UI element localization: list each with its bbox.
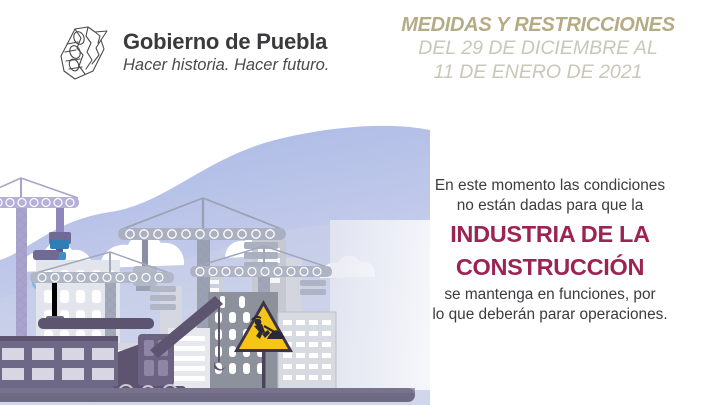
brand-tagline: Hacer historia. Hacer futuro. [123, 56, 329, 76]
poster-root: Gobierno de Puebla Hacer historia. Hacer… [0, 0, 720, 405]
suspended-beam [38, 318, 154, 329]
crane-counterweight-midleft [150, 286, 176, 310]
message-block: En este momento las condiciones no están… [395, 176, 705, 325]
crane-counterweight-center [244, 242, 278, 269]
message-highlight-line-1: INDUSTRIA DE LA [395, 221, 705, 248]
message-line-2: no están dadas para que la [395, 196, 705, 216]
low-dark-structure [0, 336, 118, 390]
measures-dates-line-1: DEL 29 DE DICIEMBRE AL [378, 37, 698, 60]
message-line-4: lo que deberán parar operaciones. [395, 305, 705, 325]
message-highlight-line-2: CONSTRUCCIÓN [395, 254, 705, 281]
government-brand: Gobierno de Puebla Hacer historia. Hacer… [55, 22, 329, 84]
header: Gobierno de Puebla Hacer historia. Hacer… [0, 0, 720, 110]
measures-block: MEDIDAS Y RESTRICCIONES DEL 29 DE DICIEM… [378, 14, 698, 84]
brand-title: Gobierno de Puebla [123, 30, 329, 53]
measures-dates-line-2: 11 DE ENERO DE 2021 [378, 61, 698, 84]
puebla-government-emblem-icon [55, 22, 113, 84]
message-line-1: En este momento las condiciones [395, 176, 705, 196]
brand-text-block: Gobierno de Puebla Hacer historia. Hacer… [123, 30, 329, 76]
message-line-3: se mantenga en funciones, por [395, 285, 705, 305]
construction-site-illustration [0, 100, 430, 405]
measures-title: MEDIDAS Y RESTRICCIONES [378, 14, 698, 36]
